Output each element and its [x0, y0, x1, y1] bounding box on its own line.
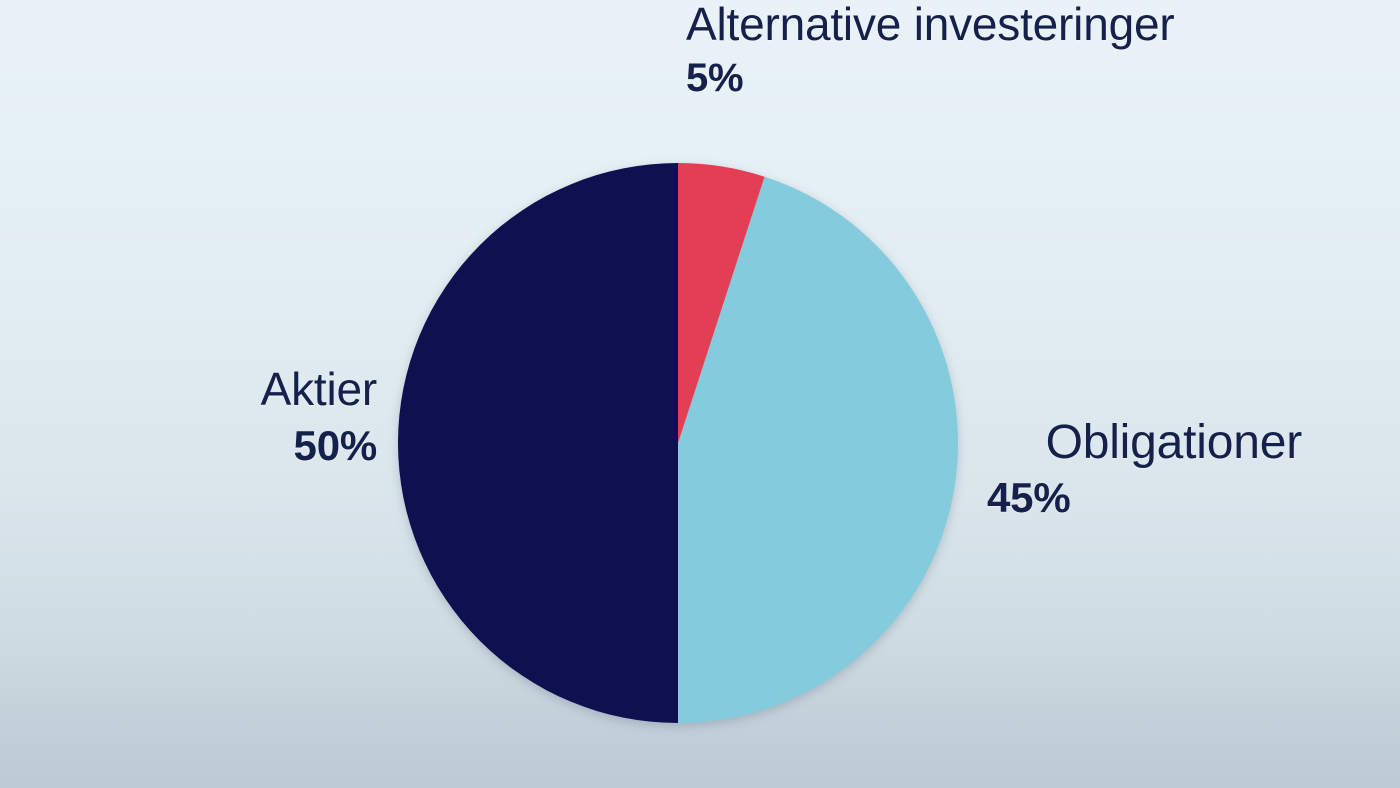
pie-label-aktier-name: Aktier: [55, 366, 377, 414]
pie-label-aktier: Aktier 50%: [55, 366, 377, 468]
pie-slice-aktier[interactable]: [398, 163, 678, 723]
pie-label-obligationer-name: Obligationer: [700, 418, 1302, 468]
slide-canvas: Alternative investeringer 5% Aktier 50% …: [0, 0, 1400, 788]
pie-label-obligationer: Obligationer 45%: [700, 418, 1302, 520]
pie-label-alternative-investeringer: Alternative investeringer 5%: [686, 1, 1174, 99]
pie-label-alternative-investeringer-name: Alternative investeringer: [686, 1, 1174, 49]
pie-label-obligationer-percent: 45%: [700, 476, 1302, 520]
pie-label-aktier-percent: 50%: [55, 424, 377, 468]
pie-label-alternative-investeringer-percent: 5%: [686, 58, 1174, 100]
